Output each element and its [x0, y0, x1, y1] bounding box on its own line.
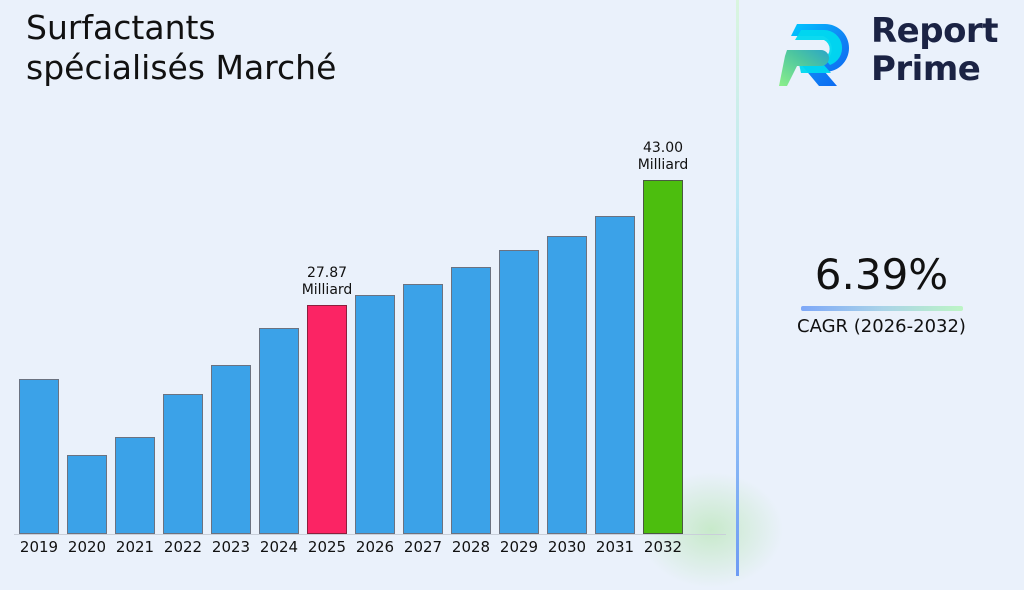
brand-panel: Report Prime 6.39% CAGR (2026-2032)	[739, 0, 1024, 576]
bar-2026[interactable]	[355, 295, 395, 534]
bar-chart: 201920202021202220232024202527.87 Millia…	[0, 0, 736, 576]
bar-2025[interactable]	[307, 305, 347, 534]
bar-value-label-2032: 43.00 Milliard	[619, 140, 707, 174]
bar-2028[interactable]	[451, 267, 491, 534]
x-axis-tick-2023: 2023	[205, 537, 257, 557]
x-axis-line	[14, 534, 726, 535]
brand-logo: Report Prime	[779, 10, 1024, 96]
bar-2020[interactable]	[67, 455, 107, 534]
bar-2032[interactable]	[643, 180, 683, 534]
x-axis-tick-2027: 2027	[397, 537, 449, 557]
x-axis-tick-2022: 2022	[157, 537, 209, 557]
cagr-caption: CAGR (2026-2032)	[739, 315, 1024, 339]
x-axis-tick-2029: 2029	[493, 537, 545, 557]
brand-name: Report Prime	[871, 12, 998, 88]
bar-2023[interactable]	[211, 365, 251, 534]
bar-2029[interactable]	[499, 250, 539, 534]
x-axis-tick-2021: 2021	[109, 537, 161, 557]
bar-2027[interactable]	[403, 284, 443, 534]
bar-value-label-2025: 27.87 Milliard	[283, 265, 371, 299]
x-axis-tick-2030: 2030	[541, 537, 593, 557]
x-axis-tick-2024: 2024	[253, 537, 305, 557]
cagr-value: 6.39%	[739, 250, 1024, 300]
bar-2024[interactable]	[259, 328, 299, 534]
bar-2030[interactable]	[547, 236, 587, 534]
x-axis-tick-2031: 2031	[589, 537, 641, 557]
chart-infographic: Surfactants spécialisés Marché 201920202…	[0, 0, 1024, 576]
cagr-divider	[801, 306, 963, 311]
x-axis-tick-2025: 2025	[301, 537, 353, 557]
x-axis-tick-2020: 2020	[61, 537, 113, 557]
x-axis-tick-2019: 2019	[13, 537, 65, 557]
x-axis-tick-2026: 2026	[349, 537, 401, 557]
bar-2021[interactable]	[115, 437, 155, 534]
x-axis-tick-2028: 2028	[445, 537, 497, 557]
cagr-block: 6.39% CAGR (2026-2032)	[739, 250, 1024, 339]
report-prime-logo-icon	[779, 16, 859, 92]
bar-2022[interactable]	[163, 394, 203, 534]
chart-panel: Surfactants spécialisés Marché 201920202…	[0, 0, 736, 576]
x-axis-tick-2032: 2032	[637, 537, 689, 557]
bar-2031[interactable]	[595, 216, 635, 534]
bar-2019[interactable]	[19, 379, 59, 534]
